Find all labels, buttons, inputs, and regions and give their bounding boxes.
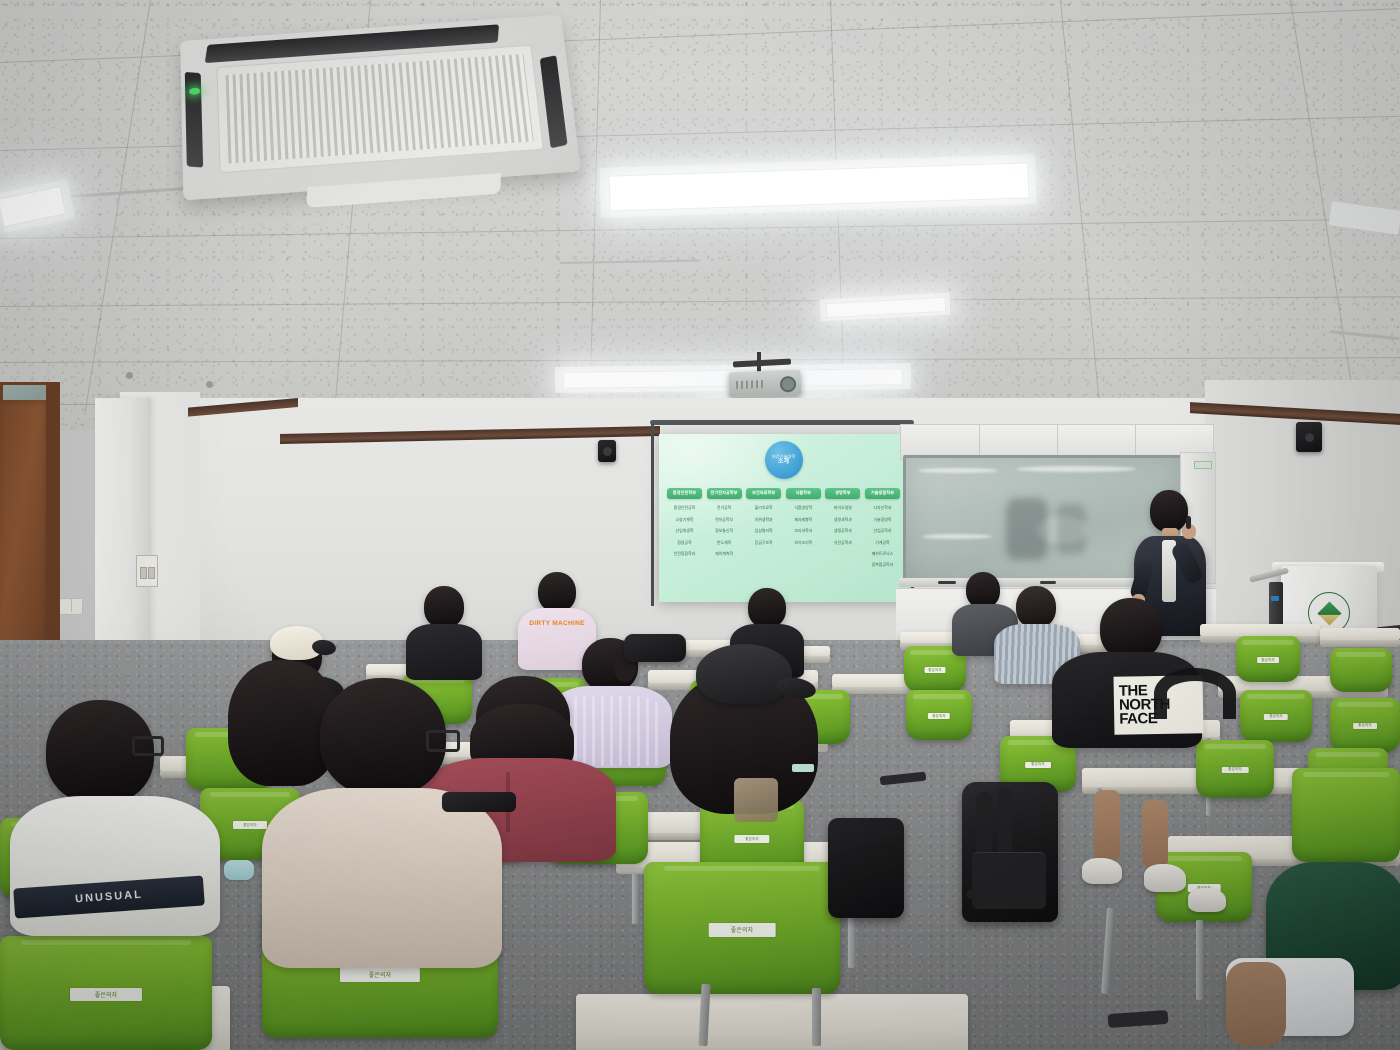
whiteboard-marker[interactable] bbox=[1040, 581, 1056, 584]
student-black-cap bbox=[670, 644, 818, 814]
chair[interactable] bbox=[1292, 768, 1400, 862]
whiteboard-reflection bbox=[1006, 498, 1048, 560]
bag-strap-on-chair bbox=[442, 792, 516, 812]
cabinet-seam bbox=[1135, 425, 1136, 459]
baseball-cap bbox=[696, 644, 792, 704]
slide-column-header: 환경안전학부 bbox=[667, 488, 702, 499]
student bbox=[406, 586, 482, 670]
sneaker bbox=[1082, 858, 1122, 884]
slide-column-header: 식품학부 bbox=[786, 488, 821, 499]
bag-on-chair bbox=[828, 818, 904, 918]
equipment-button[interactable] bbox=[1271, 596, 1279, 601]
slide-column-item: 디자인학과 bbox=[865, 506, 900, 510]
chair[interactable] bbox=[1330, 648, 1392, 692]
desk bbox=[1320, 628, 1400, 641]
chair-notch bbox=[1204, 744, 1266, 749]
slide-column-item: 융복합공학과 bbox=[865, 563, 900, 567]
chair-backrest[interactable]: 좋은의자 bbox=[1236, 636, 1300, 682]
chair-notch bbox=[1316, 752, 1380, 757]
leg bbox=[1142, 800, 1168, 868]
slide-column: 전기전자공학부 전기공학 전자공학부 정보통신학 반도체학 제어계측학 bbox=[707, 488, 742, 568]
chair-leg bbox=[1196, 920, 1203, 1000]
student-glasses: UNUSUAL bbox=[10, 700, 220, 930]
student-head bbox=[748, 588, 786, 628]
slide-column-item: 치위생학과 bbox=[746, 518, 781, 522]
chair-brand-label: 좋은의자 bbox=[1257, 657, 1279, 663]
chair-notch bbox=[913, 694, 966, 699]
ac-grille bbox=[226, 54, 534, 164]
slide-column-item: 조리과학과 bbox=[786, 529, 821, 533]
ac-inner-panel bbox=[216, 45, 543, 174]
slide-column-item: 메카트로닉스 bbox=[865, 552, 900, 556]
ac-air-vent bbox=[540, 55, 568, 148]
ceiling-projector bbox=[729, 370, 802, 397]
chair-brand-label: 좋은의자 bbox=[928, 713, 950, 719]
slide-column: 보건의료학부 물리치료학 치위생학과 임상병리학 응급구조학 bbox=[746, 488, 781, 568]
chair-backrest[interactable]: 좋은의자 bbox=[1330, 698, 1400, 752]
chair-notch bbox=[1247, 694, 1305, 699]
patterned-bag bbox=[734, 778, 778, 822]
desk-foreground bbox=[576, 994, 968, 1050]
shirt-graphic-text: DIRTY MACHINE bbox=[529, 620, 584, 627]
slide-column-item: 산업위생학 bbox=[667, 529, 702, 533]
student-head bbox=[1016, 586, 1056, 628]
chair-brand-label: 좋은의자 bbox=[70, 988, 142, 1001]
sprinkler-head bbox=[126, 372, 133, 379]
slide-column-item: 제과제빵학 bbox=[786, 518, 821, 522]
sneaker bbox=[1144, 864, 1186, 892]
chair-backrest[interactable]: 좋은의자 bbox=[0, 936, 212, 1050]
chair[interactable]: 좋은의자 bbox=[1240, 690, 1312, 742]
student-beige-shirt bbox=[262, 678, 502, 958]
ceiling-air-conditioner bbox=[180, 14, 581, 200]
backpack-pocket bbox=[972, 852, 1046, 909]
chair-backrest[interactable]: 좋은의자 bbox=[644, 862, 840, 994]
control-switch[interactable] bbox=[148, 567, 155, 579]
chair-notch bbox=[1242, 640, 1293, 645]
whiteboard-glare bbox=[1016, 466, 1136, 472]
speaker-cone-icon bbox=[603, 447, 612, 456]
slide-column-item: 환경공학 bbox=[667, 541, 702, 545]
chair-brand-label: 좋은의자 bbox=[1025, 762, 1051, 768]
desk-edge bbox=[1320, 640, 1400, 647]
chair[interactable]: 좋은의자 bbox=[906, 690, 972, 740]
projection-screen-roller bbox=[650, 420, 914, 425]
wall-speaker bbox=[598, 440, 616, 462]
lecture-hall-photo: 보건기술대학 소개 환경안전학부 환경안전공학 소방기계학 산업위생학 환경공학… bbox=[0, 0, 1400, 1050]
chair-brand-label: 좋은의자 bbox=[1353, 723, 1377, 729]
chair-notch bbox=[664, 866, 821, 871]
chair-backrest[interactable]: 좋은의자 bbox=[1240, 690, 1312, 742]
slide-column-item: 임상병리학 bbox=[746, 529, 781, 533]
student-green-hoodie bbox=[1226, 862, 1400, 1050]
slide-column-item: 기술경영학 bbox=[865, 518, 900, 522]
bag-on-desk bbox=[624, 634, 686, 662]
projector-vents bbox=[736, 380, 766, 389]
chair-backrest[interactable] bbox=[1330, 648, 1392, 692]
face-mask-on-desk[interactable] bbox=[224, 860, 254, 880]
cabinet-seam bbox=[979, 425, 980, 459]
eyeglasses-icon bbox=[132, 736, 164, 756]
wall-sign bbox=[1194, 461, 1212, 469]
chair-brand-label: 좋은의자 bbox=[709, 923, 776, 938]
chair-backrest[interactable] bbox=[1292, 768, 1400, 862]
chair-backrest[interactable]: 좋은의자 bbox=[1196, 740, 1274, 798]
sprinkler-head bbox=[206, 381, 213, 388]
student-head bbox=[424, 586, 464, 628]
cabinet-seam bbox=[1057, 425, 1058, 459]
slide-column-item: 물리치료학 bbox=[746, 506, 781, 510]
leg bbox=[1226, 962, 1286, 1046]
slide-column-header: 전기전자공학부 bbox=[707, 488, 742, 499]
whiteboard-glare bbox=[918, 468, 998, 473]
slide-column-item: 기계공학 bbox=[865, 541, 900, 545]
slide-column-item: 생명과학과 bbox=[825, 518, 860, 522]
slide-column-item: 환경안전공학 bbox=[667, 506, 702, 510]
slide-org-chart-columns: 환경안전학부 환경안전공학 소방기계학 산업위생학 환경공학 안전융합학과 전기… bbox=[667, 488, 900, 568]
student-torso bbox=[262, 788, 502, 968]
slide-column-item: 정보통신학 bbox=[707, 529, 742, 533]
chair-notch bbox=[1303, 772, 1389, 777]
slide-column-item: 반도체학 bbox=[707, 541, 742, 545]
whiteboard-reflection bbox=[1056, 504, 1086, 554]
chair-brand-label: 좋은의자 bbox=[1264, 714, 1288, 720]
projector-lens-icon bbox=[780, 376, 797, 393]
slide-column-item: 바이오생명 bbox=[825, 506, 860, 510]
slide-column-item: 안전융합학과 bbox=[667, 552, 702, 556]
slide-column-item: 유전공학과 bbox=[825, 541, 860, 545]
student-north-face: THE NORTH FACE bbox=[1052, 598, 1202, 736]
slide-column: 환경안전학부 환경안전공학 소방기계학 산업위생학 환경공학 안전융합학과 bbox=[667, 488, 702, 568]
slide-column-item: 생명공학과 bbox=[825, 529, 860, 533]
ac-air-vent bbox=[185, 72, 203, 168]
outlet-socket[interactable] bbox=[71, 599, 82, 612]
sneaker bbox=[1188, 888, 1226, 912]
chair-notch bbox=[1166, 856, 1243, 861]
slide-title-bubble: 보건기술대학 소개 bbox=[765, 441, 803, 479]
chair-notch bbox=[1337, 702, 1393, 707]
chair-notch bbox=[21, 940, 191, 945]
backpack bbox=[962, 782, 1058, 922]
presentation-slide: 보건기술대학 소개 환경안전학부 환경안전공학 소방기계학 산업위생학 환경공학… bbox=[659, 434, 908, 602]
slide-title-line2: 소개 bbox=[778, 459, 789, 467]
wall-control-panel[interactable] bbox=[136, 555, 158, 587]
chair-brand-label: 좋은의자 bbox=[340, 968, 420, 982]
eyeglasses-icon bbox=[426, 730, 460, 752]
screen-side-arm bbox=[651, 424, 654, 606]
slide-column-item: 전기공학 bbox=[707, 506, 742, 510]
chair-backrest[interactable]: 좋은의자 bbox=[906, 690, 972, 740]
wall-power-outlet[interactable] bbox=[59, 598, 83, 615]
control-switch[interactable] bbox=[140, 567, 147, 579]
speaker-cone-icon bbox=[1305, 433, 1314, 442]
slide-column-header: 생명학부 bbox=[825, 488, 860, 499]
slide-column-item: 외식조리학 bbox=[786, 541, 821, 545]
chair[interactable]: 좋은의자 bbox=[1330, 698, 1400, 752]
slide-column-item: 응급구조학 bbox=[746, 541, 781, 545]
whiteboard-glare bbox=[922, 534, 992, 539]
chair[interactable]: 좋은의자 bbox=[644, 862, 840, 994]
slide-column-header: 보건의료학부 bbox=[746, 488, 781, 499]
leg bbox=[1094, 790, 1120, 862]
slide-column: 기술융합학부 디자인학과 기술경영학 산업공학과 기계공학 메카트로닉스 융복합… bbox=[865, 488, 900, 568]
chair-notch bbox=[1336, 652, 1386, 657]
slide-column-item: 소방기계학 bbox=[667, 518, 702, 522]
student-head bbox=[1100, 598, 1162, 660]
chair[interactable]: 좋은의자 bbox=[0, 936, 212, 1050]
slide-column: 식품학부 식품영양학 제과제빵학 조리과학과 외식조리학 bbox=[786, 488, 821, 568]
chair-brand-label: 좋은의자 bbox=[1222, 767, 1249, 773]
slide-column-header: 기술융합학부 bbox=[865, 488, 900, 499]
student-head bbox=[538, 572, 576, 612]
chair-brand-label: 좋은의자 bbox=[734, 835, 769, 843]
slide-column-item: 식품영양학 bbox=[786, 506, 821, 510]
wall-speaker bbox=[1296, 422, 1322, 452]
chair[interactable]: 좋은의자 bbox=[1196, 740, 1274, 798]
slide-column-item: 전자공학부 bbox=[707, 518, 742, 522]
ceiling bbox=[0, 0, 1400, 430]
north-face-arc-icon bbox=[1154, 668, 1236, 719]
chair[interactable]: 좋은의자 bbox=[1236, 636, 1300, 682]
chair-leg bbox=[812, 988, 821, 1046]
slide-column-item: 제어계측학 bbox=[707, 552, 742, 556]
slide-column-item: 산업공학과 bbox=[865, 529, 900, 533]
chair-brand-label: 좋은의자 bbox=[924, 667, 945, 673]
slide-column: 생명학부 바이오생명 생명과학과 생명공학과 유전공학과 bbox=[825, 488, 860, 568]
student-torso bbox=[406, 624, 482, 680]
projection-screen: 보건기술대학 소개 환경안전학부 환경안전공학 소방기계학 산업위생학 환경공학… bbox=[659, 434, 908, 602]
stationery-item[interactable] bbox=[792, 764, 814, 772]
handheld-microphone bbox=[1186, 516, 1191, 529]
